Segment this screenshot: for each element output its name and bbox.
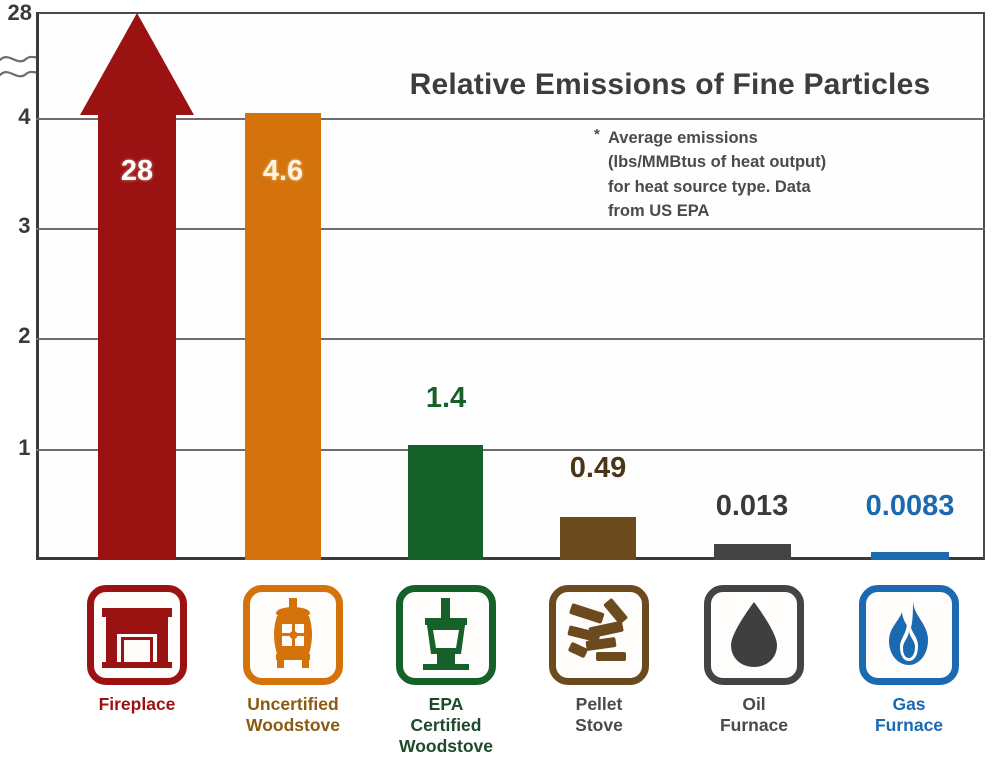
- y-tick-label-1: 1: [0, 435, 30, 461]
- bar-value-oil-furnace: 0.013: [677, 490, 827, 523]
- bar-value-uncertified-woodstove: 4.6: [245, 155, 321, 188]
- legend-item-uncertified-woodstove[interactable]: Uncertified Woodstove: [218, 585, 368, 736]
- gas-flame-icon: [859, 585, 959, 685]
- bar-value-pellet-stove: 0.49: [523, 452, 673, 485]
- oil-droplet-icon: [704, 585, 804, 685]
- legend-caption-line-3: Woodstove: [371, 736, 521, 757]
- bar-gas-furnace-rect: [871, 552, 949, 560]
- chart-canvas: 28 4 3 2 1 Relative Emissions of Fine Pa…: [0, 0, 1000, 779]
- y-tick-label-2: 2: [0, 323, 30, 349]
- epa-woodstove-icon: [396, 585, 496, 685]
- bar-epa-certified-woodstove[interactable]: 1.4: [408, 12, 483, 560]
- legend-item-epa-certified-woodstove[interactable]: EPA Certified Woodstove: [371, 585, 521, 757]
- legend-caption-uncertified-woodstove: Uncertified Woodstove: [218, 694, 368, 736]
- legend-row: Fireplace Uncertifie: [0, 585, 1000, 779]
- bar-pellet-stove[interactable]: 0.49: [560, 12, 636, 560]
- legend-caption-fireplace: Fireplace: [62, 694, 212, 715]
- legend-caption-gas-furnace: Gas Furnace: [834, 694, 984, 736]
- legend-caption-line-1: Oil: [679, 694, 829, 715]
- bar-value-fireplace: 28: [98, 155, 176, 188]
- legend-caption-pellet-stove: Pellet Stove: [524, 694, 674, 736]
- bar-uncertified-woodstove[interactable]: 4.6: [245, 12, 321, 560]
- bar-fireplace[interactable]: 28: [98, 12, 176, 560]
- legend-caption-line-1: Gas: [834, 694, 984, 715]
- legend-item-gas-furnace[interactable]: Gas Furnace: [834, 585, 984, 736]
- legend-caption-epa-certified-woodstove: EPA Certified Woodstove: [371, 694, 521, 757]
- y-tick-label-4: 4: [0, 104, 30, 130]
- bar-gas-furnace[interactable]: 0.0083: [871, 12, 949, 560]
- y-tick-label-3: 3: [0, 213, 30, 239]
- bar-fireplace-arrowhead: [80, 13, 194, 115]
- legend-caption-line-1: Fireplace: [99, 694, 176, 714]
- fireplace-icon: [87, 585, 187, 685]
- bar-pellet-stove-rect: [560, 517, 636, 560]
- gridline-4: [36, 118, 985, 120]
- bar-value-gas-furnace: 0.0083: [835, 490, 985, 523]
- legend-item-oil-furnace[interactable]: Oil Furnace: [679, 585, 829, 736]
- legend-item-pellet-stove[interactable]: Pellet Stove: [524, 585, 674, 736]
- legend-caption-line-2: Furnace: [834, 715, 984, 736]
- gridline-3: [36, 228, 985, 230]
- bar-epa-certified-woodstove-rect: [408, 445, 483, 560]
- legend-caption-oil-furnace: Oil Furnace: [679, 694, 829, 736]
- legend-caption-line-1: Pellet: [524, 694, 674, 715]
- bar-oil-furnace-rect: [714, 544, 791, 560]
- woodstove-icon: [243, 585, 343, 685]
- wood-pellets-icon: [549, 585, 649, 685]
- legend-caption-line-2: Stove: [524, 715, 674, 736]
- legend-caption-line-1: Uncertified: [218, 694, 368, 715]
- y-tick-label-28: 28: [0, 0, 32, 26]
- legend-caption-line-2: Certified: [371, 715, 521, 736]
- legend-caption-line-2: Woodstove: [218, 715, 368, 736]
- gridline-2: [36, 338, 985, 340]
- legend-caption-line-1: EPA: [371, 694, 521, 715]
- legend-item-fireplace[interactable]: Fireplace: [62, 585, 212, 715]
- bar-value-epa-certified-woodstove: 1.4: [371, 382, 521, 415]
- legend-caption-line-2: Furnace: [679, 715, 829, 736]
- bar-oil-furnace[interactable]: 0.013: [714, 12, 791, 560]
- gridline-1: [36, 449, 985, 451]
